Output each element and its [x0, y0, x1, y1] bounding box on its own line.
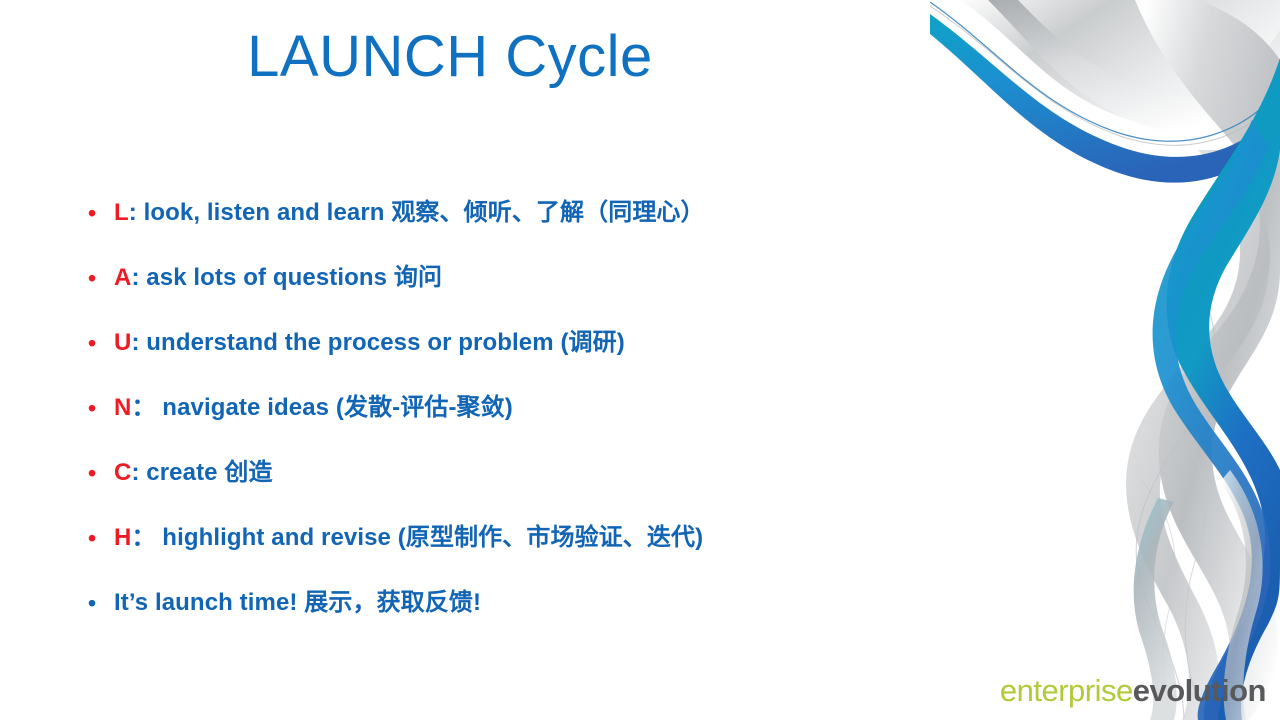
bullet-body: : understand the process or problem (调研) [131, 329, 624, 356]
list-item: • It’s launch time! 展示，获取反馈! [88, 586, 948, 651]
list-item: • H： highlight and revise (原型制作、市场验证、迭代) [88, 521, 948, 586]
bullet-key-letter: L [114, 199, 129, 226]
bullet-text: A: ask lots of questions 询问 [114, 261, 948, 295]
bullet-marker-icon: • [88, 391, 114, 425]
bullet-text: H： highlight and revise (原型制作、市场验证、迭代) [114, 521, 948, 555]
bullet-text: It’s launch time! 展示，获取反馈! [114, 586, 948, 620]
bullet-text: U: understand the process or problem (调研… [114, 326, 948, 360]
bullet-text: L: look, listen and learn 观察、倾听、了解（同理心） [114, 196, 948, 230]
bullet-marker-icon: • [88, 521, 114, 555]
bullet-key-letter: H [114, 524, 131, 551]
bullet-key-letter: N [114, 394, 131, 421]
flowing-ribbon-graphic [930, 0, 1280, 720]
list-item: • L: look, listen and learn 观察、倾听、了解（同理心… [88, 196, 948, 261]
bullet-body: : ask lots of questions 询问 [131, 264, 442, 291]
logo-text-enterprise: enterprise [1000, 673, 1133, 708]
bullet-marker-icon: • [88, 586, 114, 620]
bullet-body: It’s launch time! 展示，获取反馈! [114, 589, 481, 616]
bullet-key-letter: C [114, 459, 131, 486]
bullet-body: ： highlight and revise (原型制作、市场验证、迭代) [131, 524, 703, 551]
bullet-key-letter: U [114, 329, 131, 356]
bullet-key-letter: A [114, 264, 131, 291]
bullet-marker-icon: • [88, 456, 114, 490]
bullet-text: N： navigate ideas (发散-评估-聚敛) [114, 391, 948, 425]
bullet-body: : look, listen and learn 观察、倾听、了解（同理心） [129, 199, 705, 226]
bullet-marker-icon: • [88, 326, 114, 360]
logo-text-evolution: evolution [1133, 673, 1266, 708]
slide-canvas: LAUNCH Cycle • L: look, listen and learn… [0, 0, 1280, 720]
slide-title: LAUNCH Cycle [0, 24, 900, 91]
bullet-text: C: create 创造 [114, 456, 948, 490]
list-item: • C: create 创造 [88, 456, 948, 521]
list-item: • A: ask lots of questions 询问 [88, 261, 948, 326]
bullet-body: ： navigate ideas (发散-评估-聚敛) [131, 394, 512, 421]
bullet-marker-icon: • [88, 196, 114, 230]
bullet-list: • L: look, listen and learn 观察、倾听、了解（同理心… [88, 196, 948, 651]
bullet-marker-icon: • [88, 261, 114, 295]
list-item: • U: understand the process or problem (… [88, 326, 948, 391]
enterprise-evolution-logo: enterpriseevolution [1000, 675, 1266, 706]
bullet-body: : create 创造 [131, 459, 272, 486]
list-item: • N： navigate ideas (发散-评估-聚敛) [88, 391, 948, 456]
